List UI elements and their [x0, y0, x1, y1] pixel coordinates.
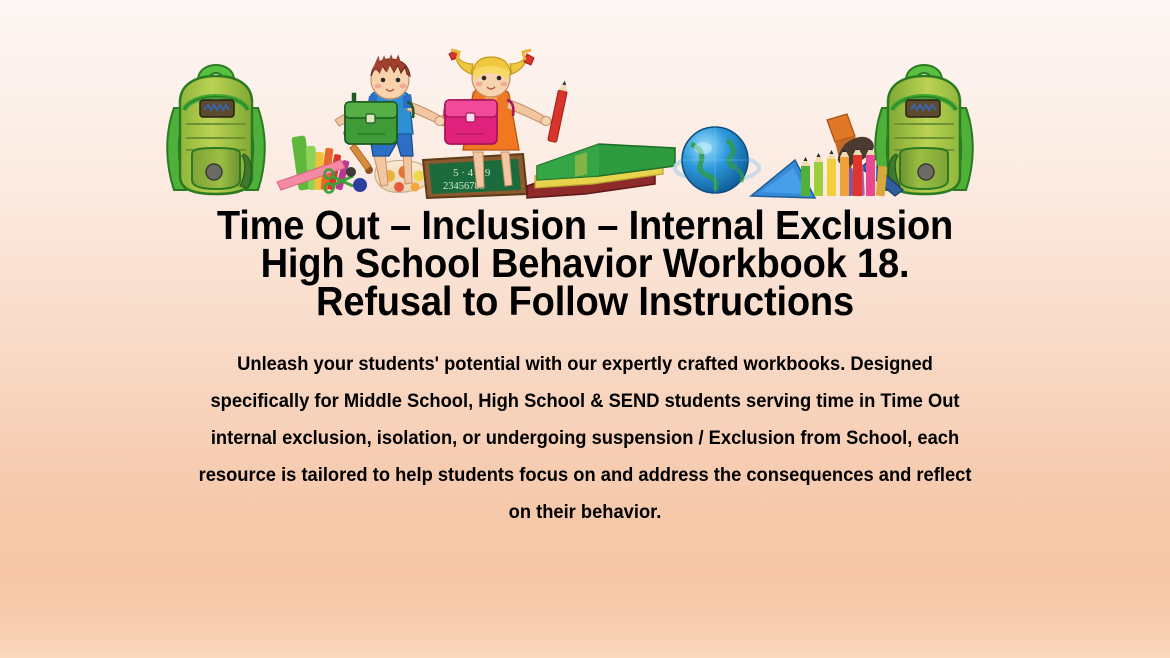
description-line-3: internal exclusion, isolation, or underg…	[176, 420, 993, 457]
globe-graphic	[675, 127, 759, 193]
description-paragraph: Unleash your students' potential with ou…	[176, 346, 993, 531]
slide-canvas: 5 · 4 = 9 23456789	[0, 0, 1170, 658]
description-line-1: Unleash your students' potential with ou…	[176, 346, 993, 383]
chalkboard-line1: 5 · 4 = 9	[453, 167, 491, 179]
title-line-1: Time Out – Inclusion – Internal Exclusio…	[35, 206, 1135, 244]
title-line-2: High School Behavior Workbook 18.	[35, 244, 1135, 282]
backpack-right-graphic	[875, 65, 973, 194]
back-to-school-illustration: 5 · 4 = 9 23456789	[155, 48, 985, 200]
backpack-left-graphic	[167, 65, 265, 194]
description-line-2: specifically for Middle School, High Sch…	[176, 383, 993, 420]
description-line-4: resource is tailored to help students fo…	[176, 457, 993, 494]
red-pencil-graphic	[548, 80, 570, 143]
title-line-3: Refusal to Follow Instructions	[35, 282, 1135, 320]
description-line-5: on their behavior.	[176, 494, 993, 531]
page-title: Time Out – Inclusion – Internal Exclusio…	[35, 206, 1135, 320]
text-block: Time Out – Inclusion – Internal Exclusio…	[0, 206, 1170, 531]
book-stack-graphic	[527, 144, 675, 198]
center-school-scene: 5 · 4 = 9 23456789	[277, 50, 903, 198]
